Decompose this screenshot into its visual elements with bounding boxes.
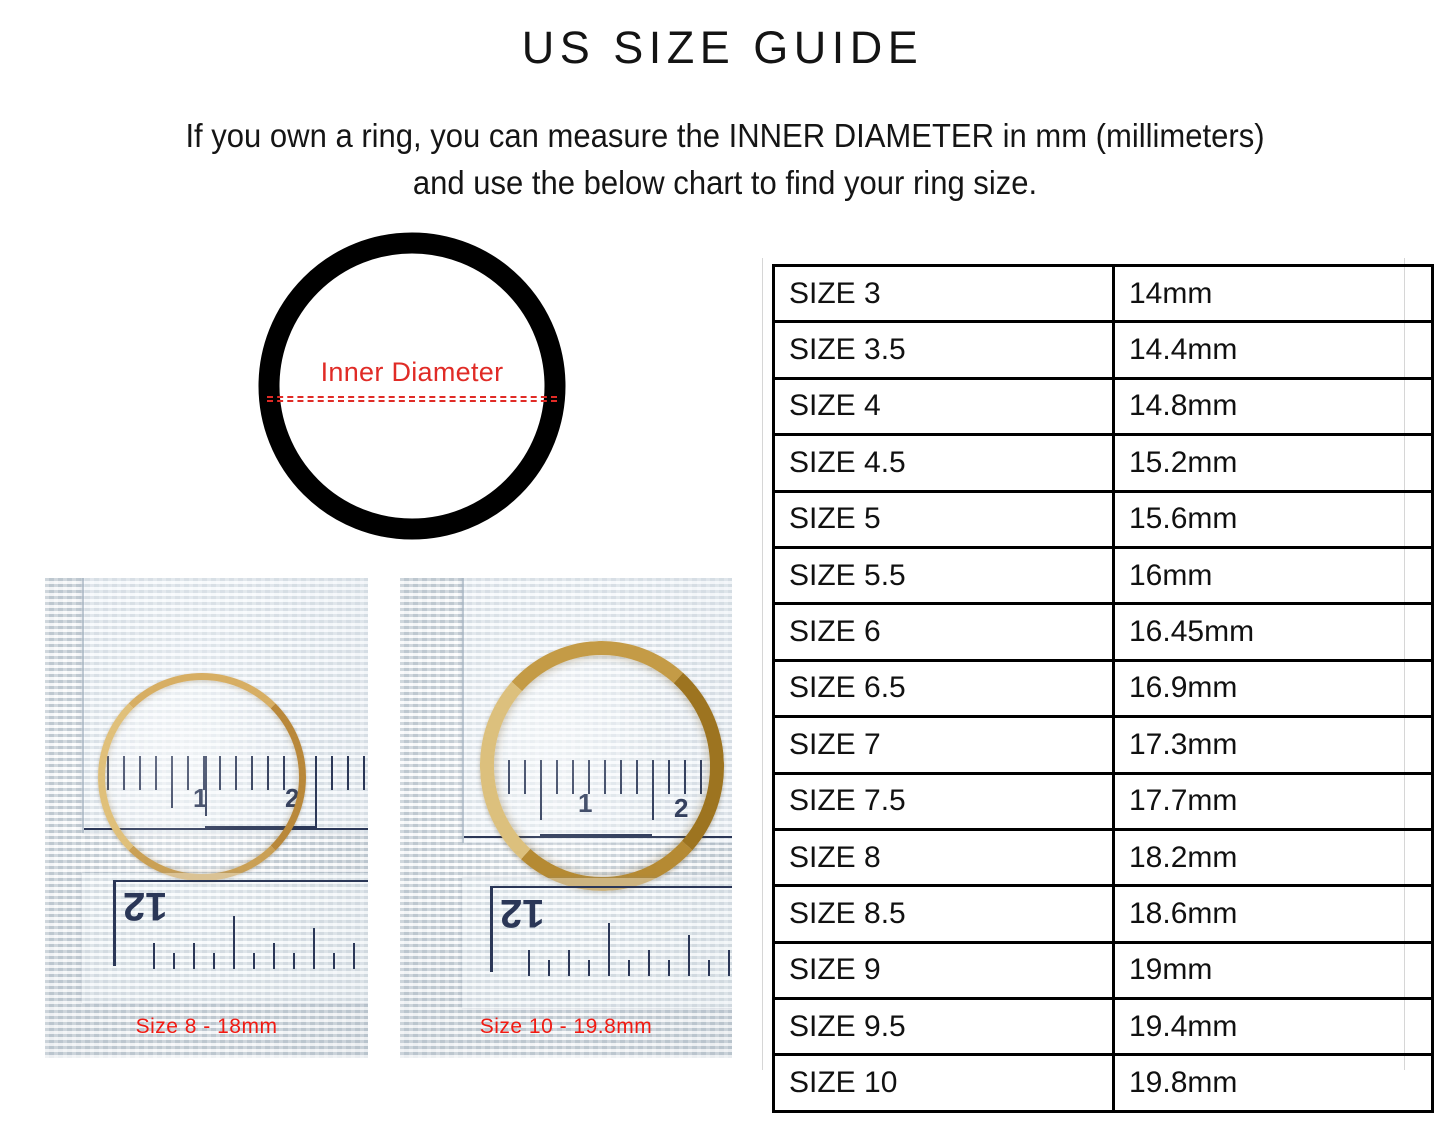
ruler-number-12-rotated: 12 bbox=[123, 883, 168, 928]
size-cell: SIZE 4.5 bbox=[774, 435, 1114, 491]
table-row: SIZE 616.45mm bbox=[774, 604, 1433, 660]
diameter-cell: 16.9mm bbox=[1114, 660, 1433, 716]
diameter-cell: 17.7mm bbox=[1114, 773, 1433, 829]
ruler-number-12-rotated: 12 bbox=[500, 890, 545, 935]
lower-ruler-top-line bbox=[113, 880, 368, 882]
size-cell: SIZE 6.5 bbox=[774, 660, 1114, 716]
ring-photo-size-8: 1 2 12 Size 8 - 18mm bbox=[45, 578, 368, 1058]
lower-ruler-left-rule bbox=[113, 880, 116, 966]
diameter-cell: 15.2mm bbox=[1114, 435, 1433, 491]
diameter-cell: 19.8mm bbox=[1114, 1055, 1433, 1111]
caption-size-10: Size 10 - 19.8mm bbox=[400, 1015, 732, 1039]
size-table-body: SIZE 314mmSIZE 3.514.4mmSIZE 414.8mmSIZE… bbox=[774, 266, 1433, 1112]
size-cell: SIZE 5 bbox=[774, 491, 1114, 547]
diameter-cell: 19mm bbox=[1114, 942, 1433, 998]
table-row: SIZE 6.516.9mm bbox=[774, 660, 1433, 716]
size-cell: SIZE 3.5 bbox=[774, 322, 1114, 378]
size-cell: SIZE 8 bbox=[774, 829, 1114, 885]
diameter-cell: 16mm bbox=[1114, 547, 1433, 603]
size-cell: SIZE 7.5 bbox=[774, 773, 1114, 829]
diameter-measure-line bbox=[267, 396, 557, 401]
diameter-cell: 14.8mm bbox=[1114, 378, 1433, 434]
diameter-cell: 18.6mm bbox=[1114, 886, 1433, 942]
lower-ruler-left-rule bbox=[490, 886, 493, 972]
diameter-cell: 16.45mm bbox=[1114, 604, 1433, 660]
table-row: SIZE 7.517.7mm bbox=[774, 773, 1433, 829]
page-title: US SIZE GUIDE bbox=[0, 22, 1445, 74]
diameter-cell: 18.2mm bbox=[1114, 829, 1433, 885]
table-row: SIZE 9.519.4mm bbox=[774, 999, 1433, 1055]
size-cell: SIZE 6 bbox=[774, 604, 1114, 660]
diameter-cell: 14mm bbox=[1114, 266, 1433, 322]
table-row: SIZE 414.8mm bbox=[774, 378, 1433, 434]
caption-size-8: Size 8 - 18mm bbox=[45, 1015, 368, 1039]
diameter-cell: 17.3mm bbox=[1114, 717, 1433, 773]
size-cell: SIZE 3 bbox=[774, 266, 1114, 322]
table-row: SIZE 818.2mm bbox=[774, 829, 1433, 885]
diameter-cell: 15.6mm bbox=[1114, 491, 1433, 547]
table-row: SIZE 5.516mm bbox=[774, 547, 1433, 603]
size-cell: SIZE 9 bbox=[774, 942, 1114, 998]
lower-ruler-top-line bbox=[490, 886, 732, 888]
size-cell: SIZE 10 bbox=[774, 1055, 1114, 1111]
size-cell: SIZE 7 bbox=[774, 717, 1114, 773]
diameter-cell: 14.4mm bbox=[1114, 322, 1433, 378]
table-row: SIZE 4.515.2mm bbox=[774, 435, 1433, 491]
ring-size-table: SIZE 314mmSIZE 3.514.4mmSIZE 414.8mmSIZE… bbox=[772, 264, 1434, 1113]
inner-diameter-label: Inner Diameter bbox=[257, 357, 567, 388]
size-cell: SIZE 5.5 bbox=[774, 547, 1114, 603]
table-row: SIZE 717.3mm bbox=[774, 717, 1433, 773]
table-row: SIZE 8.518.6mm bbox=[774, 886, 1433, 942]
size-cell: SIZE 4 bbox=[774, 378, 1114, 434]
size-cell: SIZE 9.5 bbox=[774, 999, 1114, 1055]
table-row: SIZE 1019.8mm bbox=[774, 1055, 1433, 1111]
instruction-text: If you own a ring, you can measure the I… bbox=[185, 112, 1266, 206]
ruler-left-edge bbox=[462, 578, 464, 843]
table-row: SIZE 515.6mm bbox=[774, 491, 1433, 547]
gridline-hint-left bbox=[762, 258, 763, 1070]
ruler-left-edge bbox=[82, 578, 84, 833]
table-row: SIZE 3.514.4mm bbox=[774, 322, 1433, 378]
gold-ring-size-8 bbox=[98, 673, 306, 881]
table-row: SIZE 314mm bbox=[774, 266, 1433, 322]
size-cell: SIZE 8.5 bbox=[774, 886, 1114, 942]
ring-photo-size-10: 1 2 12 Size 10 - 19.8mm bbox=[400, 578, 732, 1058]
diameter-cell: 19.4mm bbox=[1114, 999, 1433, 1055]
table-row: SIZE 919mm bbox=[774, 942, 1433, 998]
